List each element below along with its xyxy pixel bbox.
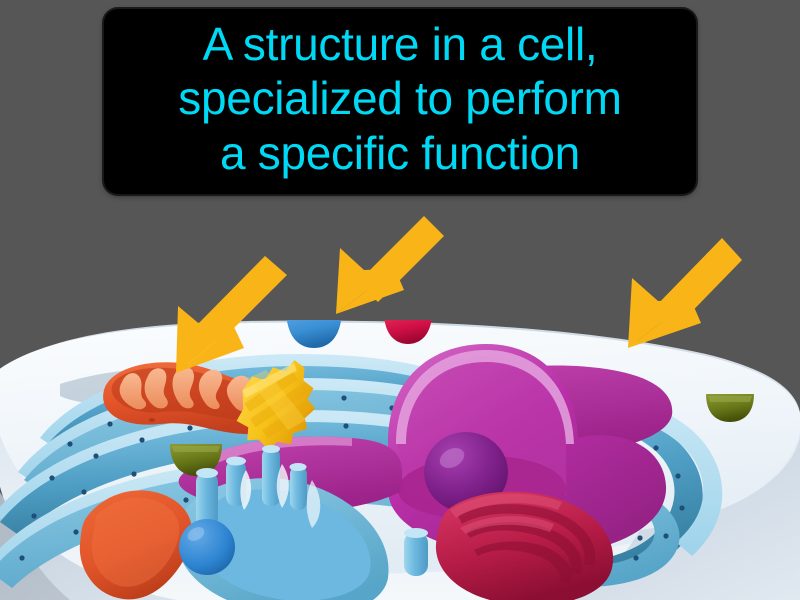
- annotation-arrow-layer: [0, 0, 800, 600]
- arrow-to-vesicle-icon: [336, 216, 444, 314]
- arrow-to-mitochondrion-icon: [176, 256, 287, 373]
- arrow-to-nucleus-icon: [628, 238, 742, 348]
- screenshot-canvas: A structure in a cell, specialized to pe…: [0, 0, 800, 600]
